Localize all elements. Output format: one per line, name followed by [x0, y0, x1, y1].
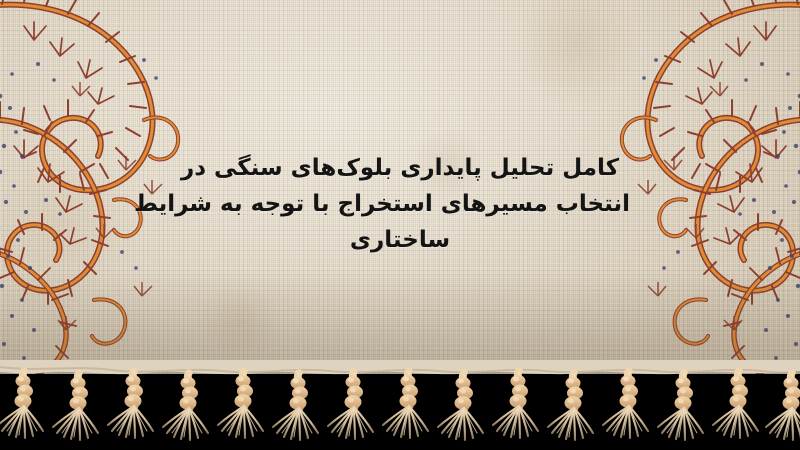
- title-line-3: ساختاری: [170, 222, 630, 258]
- title-line-1: کامل تحلیل پایداری بلوک‌های سنگی در: [170, 150, 630, 186]
- fringe-background: [0, 374, 800, 450]
- title-line-2: انتخاب مسیرهای استخراج با توجه به شرایط: [170, 186, 630, 222]
- slide-canvas: کامل تحلیل پایداری بلوک‌های سنگی در انتخ…: [0, 0, 800, 450]
- slide-title: کامل تحلیل پایداری بلوک‌های سنگی در انتخ…: [170, 150, 630, 258]
